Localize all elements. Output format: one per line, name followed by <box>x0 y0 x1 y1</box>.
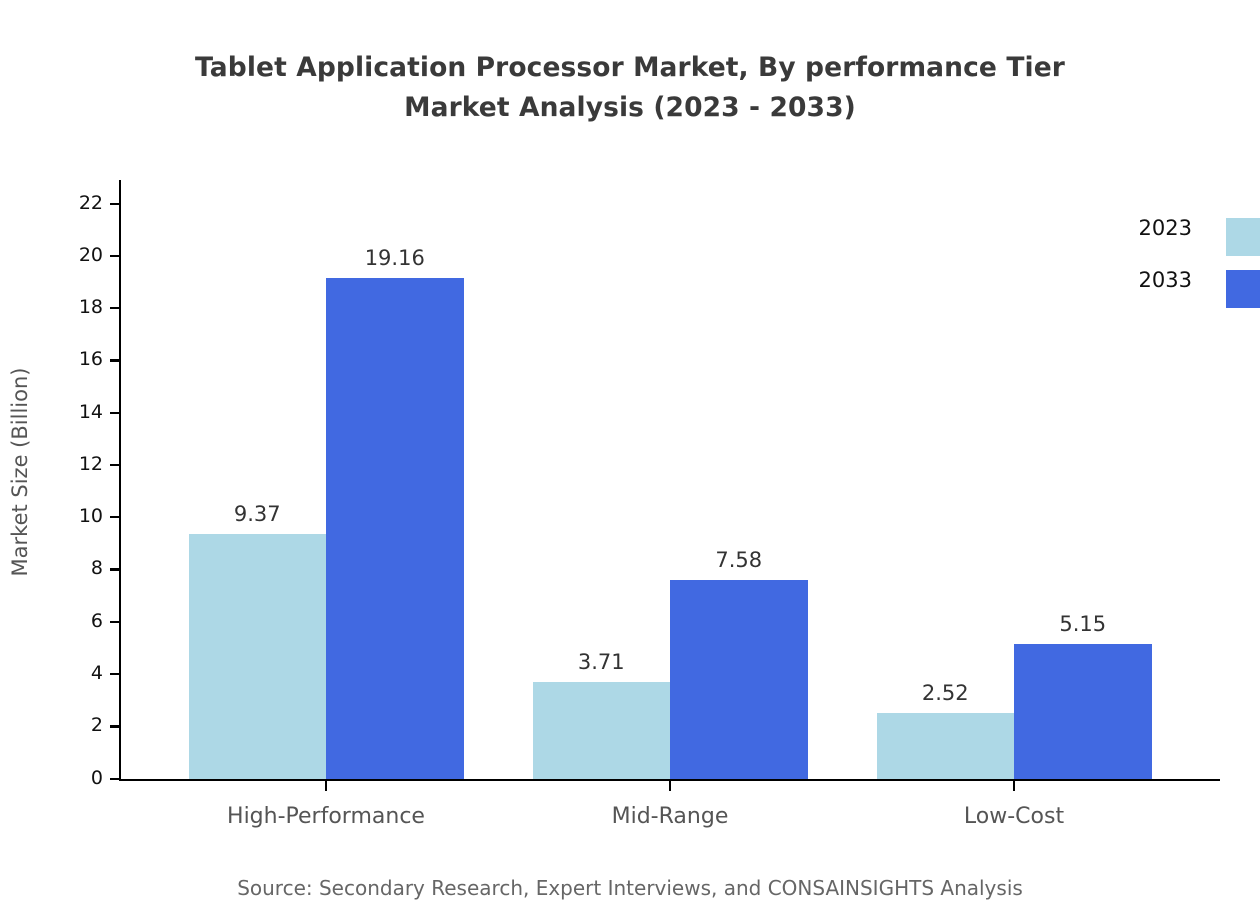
y-tick <box>110 778 119 780</box>
y-tick-label: 2 <box>43 716 103 735</box>
y-axis-label: Market Size (Billion) <box>0 0 40 920</box>
legend-item-2023[interactable]: 2023 <box>1110 210 1260 250</box>
y-tick <box>110 307 119 309</box>
y-tick-label: 20 <box>43 246 103 265</box>
chart-title: Tablet Application Processor Market, By … <box>0 48 1260 128</box>
y-tick-label: 0 <box>43 769 103 788</box>
y-tick-label: 8 <box>43 559 103 578</box>
y-tick <box>110 255 119 257</box>
bar-value-label: 5.15 <box>1013 612 1153 636</box>
legend-swatch <box>1226 218 1260 256</box>
bar-value-label: 7.58 <box>669 548 809 572</box>
y-tick <box>110 464 119 466</box>
y-tick-label: 4 <box>43 664 103 683</box>
y-tick-label: 12 <box>43 455 103 474</box>
y-axis-label-text: Market Size (Billion) <box>8 302 32 642</box>
bar-value-label: 19.16 <box>325 246 465 270</box>
plot-area: 0246810121416182022 High-PerformanceMid-… <box>119 180 1220 781</box>
y-tick-label: 18 <box>43 298 103 317</box>
chart-title-line-1: Tablet Application Processor Market, By … <box>0 48 1260 88</box>
y-tick <box>110 412 119 414</box>
y-tick <box>110 568 119 570</box>
chart-figure: Tablet Application Processor Market, By … <box>0 0 1260 920</box>
y-tick <box>110 673 119 675</box>
y-tick-label: 10 <box>43 507 103 526</box>
x-tick-label: High-Performance <box>176 804 476 829</box>
y-tick <box>110 725 119 727</box>
bar-2033-low-cost[interactable] <box>1014 644 1152 779</box>
legend-label: 2033 <box>1139 268 1192 292</box>
bar-2023-low-cost[interactable] <box>877 713 1015 779</box>
y-tick <box>110 621 119 623</box>
x-tick <box>325 781 327 791</box>
bar-value-label: 3.71 <box>531 650 671 674</box>
source-note: Source: Secondary Research, Expert Inter… <box>0 876 1260 900</box>
x-tick-label: Low-Cost <box>864 804 1164 829</box>
y-tick <box>110 516 119 518</box>
x-tick <box>1013 781 1015 791</box>
bar-2023-mid-range[interactable] <box>533 682 671 779</box>
bar-2023-high-performance[interactable] <box>189 534 327 779</box>
y-tick-label: 14 <box>43 403 103 422</box>
bar-2033-high-performance[interactable] <box>326 278 464 779</box>
bar-2033-mid-range[interactable] <box>670 580 808 778</box>
y-tick-label: 22 <box>43 194 103 213</box>
x-tick-label: Mid-Range <box>520 804 820 829</box>
chart-legend: 20232033 <box>1110 210 1260 310</box>
legend-swatch <box>1226 270 1260 308</box>
y-tick-label: 6 <box>43 612 103 631</box>
legend-item-2033[interactable]: 2033 <box>1110 262 1260 302</box>
bar-value-label: 2.52 <box>875 681 1015 705</box>
y-tick <box>110 359 119 361</box>
legend-label: 2023 <box>1139 216 1192 240</box>
y-tick <box>110 203 119 205</box>
chart-title-line-2: Market Analysis (2023 - 2033) <box>0 88 1260 128</box>
bar-value-label: 9.37 <box>187 502 327 526</box>
y-axis-spine <box>119 180 121 781</box>
x-tick <box>669 781 671 791</box>
y-tick-label: 16 <box>43 350 103 369</box>
